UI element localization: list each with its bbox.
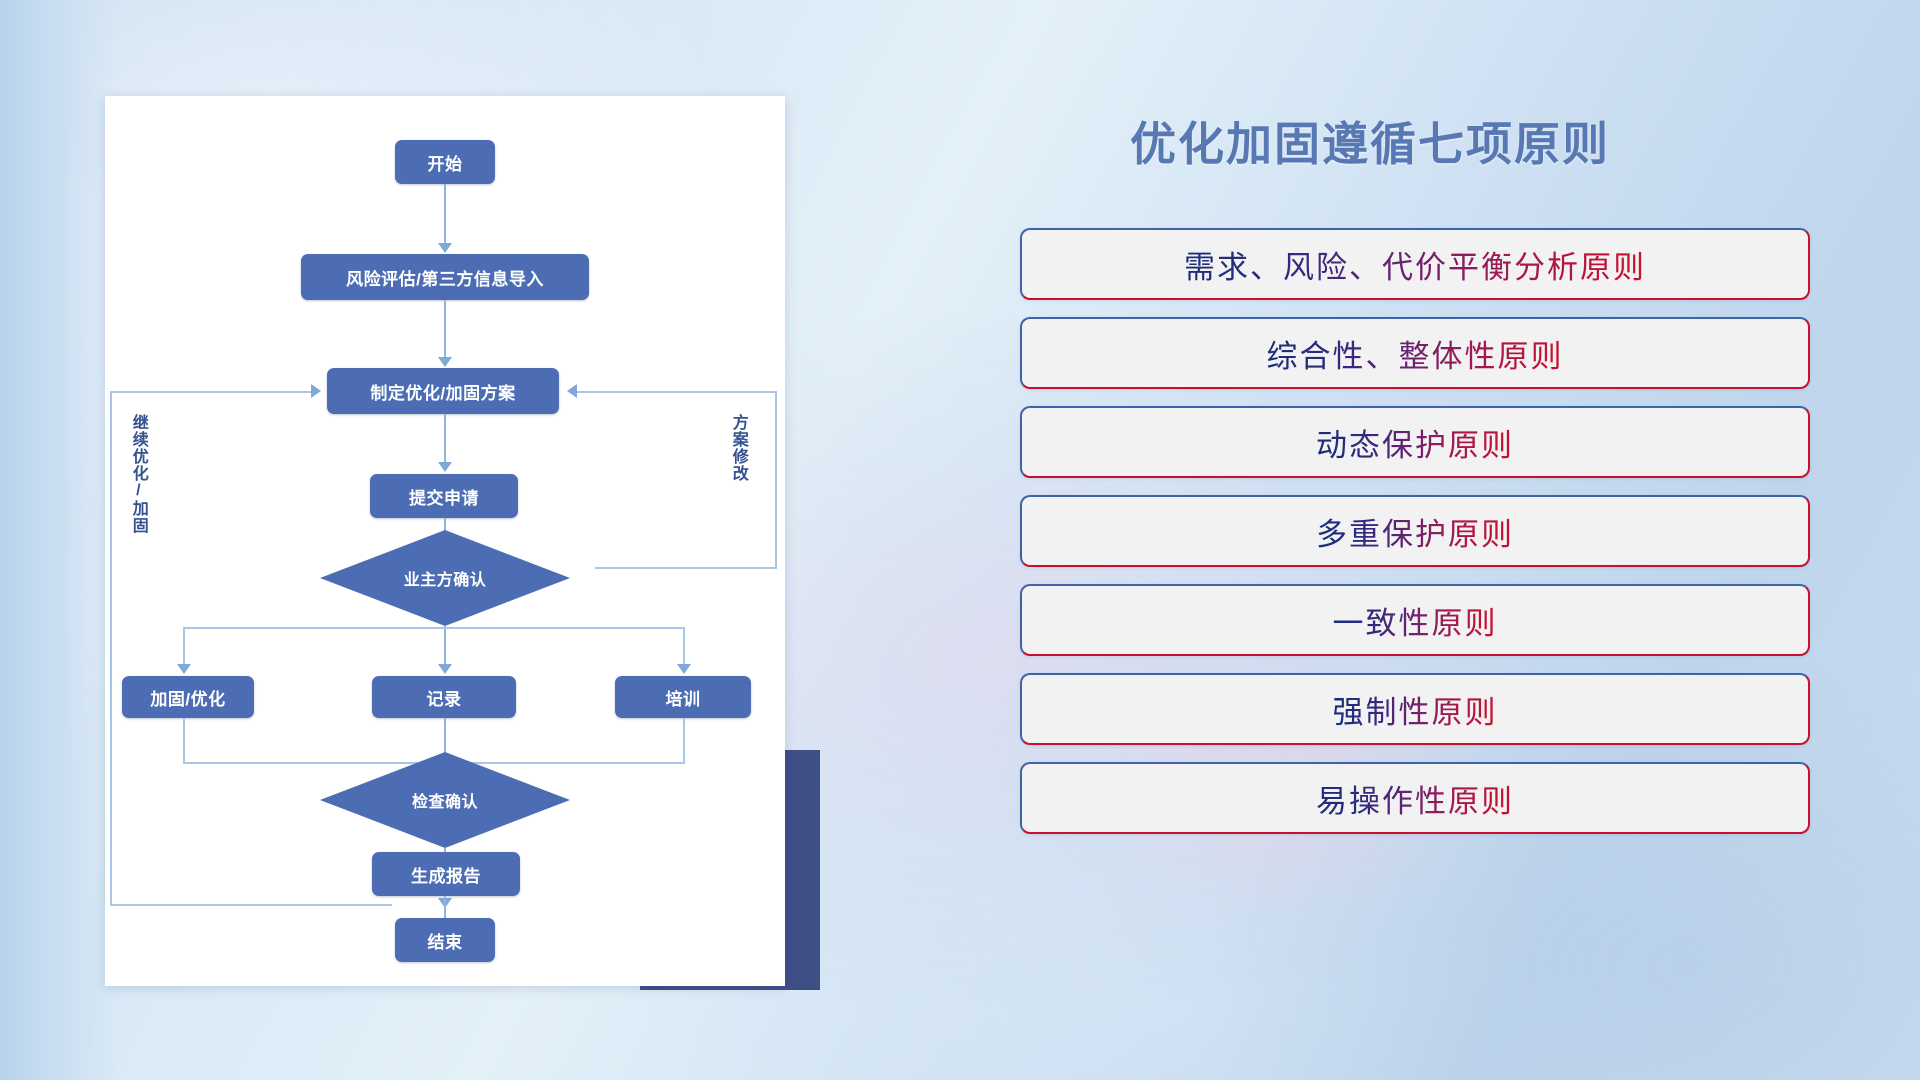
flowchart-panel: 开始 风险评估/第三方信息导入 制定优化/加固方案 继续优化/加固 方案修改 xyxy=(0,0,840,1080)
flow-node-make-plan[interactable]: 制定优化/加固方案 xyxy=(327,368,559,414)
loop-left-top xyxy=(110,391,315,393)
connector-start-to-risk xyxy=(444,184,446,246)
connector-owner-down xyxy=(444,626,446,668)
flow-decision-owner-confirm[interactable]: 业主方确认 xyxy=(320,530,570,626)
merge-left-rise xyxy=(183,718,185,764)
branch-left-drop xyxy=(183,627,185,667)
principle-item-7[interactable]: 易操作性原则 xyxy=(1020,762,1810,834)
flow-node-risk-assessment[interactable]: 风险评估/第三方信息导入 xyxy=(301,254,589,300)
principle-item-2[interactable]: 综合性、整体性原则 xyxy=(1020,317,1810,389)
principle-label: 多重保护原则 xyxy=(1316,509,1514,554)
arrow-loop-right-into-plan xyxy=(567,384,577,398)
flow-node-reinforce[interactable]: 加固/优化 xyxy=(122,676,254,718)
principle-label: 一致性原则 xyxy=(1333,598,1498,643)
arrow-loop-left-into-plan xyxy=(311,384,321,398)
flowchart-card: 开始 风险评估/第三方信息导入 制定优化/加固方案 继续优化/加固 方案修改 xyxy=(105,96,785,986)
flow-node-start[interactable]: 开始 xyxy=(395,140,495,184)
page-title: 优化加固遵循七项原则 xyxy=(1130,108,1610,174)
connector-risk-to-plan xyxy=(444,300,446,360)
connector-plan-to-submit xyxy=(444,414,446,466)
flow-node-record[interactable]: 记录 xyxy=(372,676,516,718)
flow-node-generate-report[interactable]: 生成报告 xyxy=(372,852,520,896)
arrow-to-training xyxy=(677,664,691,674)
principle-label: 易操作性原则 xyxy=(1316,776,1514,821)
arrow-start-to-risk xyxy=(438,243,452,253)
merge-right-rise xyxy=(683,718,685,764)
loop-right-top xyxy=(577,391,777,393)
principle-label: 动态保护原则 xyxy=(1316,420,1514,465)
arrow-risk-to-plan xyxy=(438,357,452,367)
arrow-plan-to-submit xyxy=(438,462,452,472)
flowchart-canvas: 开始 风险评估/第三方信息导入 制定优化/加固方案 继续优化/加固 方案修改 xyxy=(105,96,785,986)
principle-label: 强制性原则 xyxy=(1333,687,1498,732)
flow-decision-inspect-confirm[interactable]: 检查确认 xyxy=(320,752,570,848)
loop-left-vertical xyxy=(110,391,112,906)
arrow-to-record xyxy=(438,664,452,674)
branch-right-drop xyxy=(683,627,685,667)
loop-left-bottom xyxy=(110,904,392,906)
principle-label: 需求、风险、代价平衡分析原则 xyxy=(1184,242,1646,287)
principle-item-4[interactable]: 多重保护原则 xyxy=(1020,495,1810,567)
flow-node-end[interactable]: 结束 xyxy=(395,918,495,962)
principle-item-6[interactable]: 强制性原则 xyxy=(1020,673,1810,745)
principle-label: 综合性、整体性原则 xyxy=(1267,331,1564,376)
flow-node-training[interactable]: 培训 xyxy=(615,676,751,718)
principles-panel: 优化加固遵循七项原则 需求、风险、代价平衡分析原则 综合性、整体性原则 动态保护… xyxy=(1000,0,1920,1080)
arrow-to-reinforce xyxy=(177,664,191,674)
principle-item-5[interactable]: 一致性原则 xyxy=(1020,584,1810,656)
principle-item-1[interactable]: 需求、风险、代价平衡分析原则 xyxy=(1020,228,1810,300)
flow-node-submit[interactable]: 提交申请 xyxy=(370,474,518,518)
principles-list: 需求、风险、代价平衡分析原则 综合性、整体性原则 动态保护原则 多重保护原则 一… xyxy=(1020,228,1810,851)
flow-label-continue-optimize: 继续优化/加固 xyxy=(129,414,146,584)
loop-right-bottom xyxy=(595,567,777,569)
branch-bus xyxy=(183,627,683,629)
flow-label-plan-revision: 方案修改 xyxy=(729,414,746,534)
principle-item-3[interactable]: 动态保护原则 xyxy=(1020,406,1810,478)
loop-right-vertical xyxy=(775,391,777,569)
